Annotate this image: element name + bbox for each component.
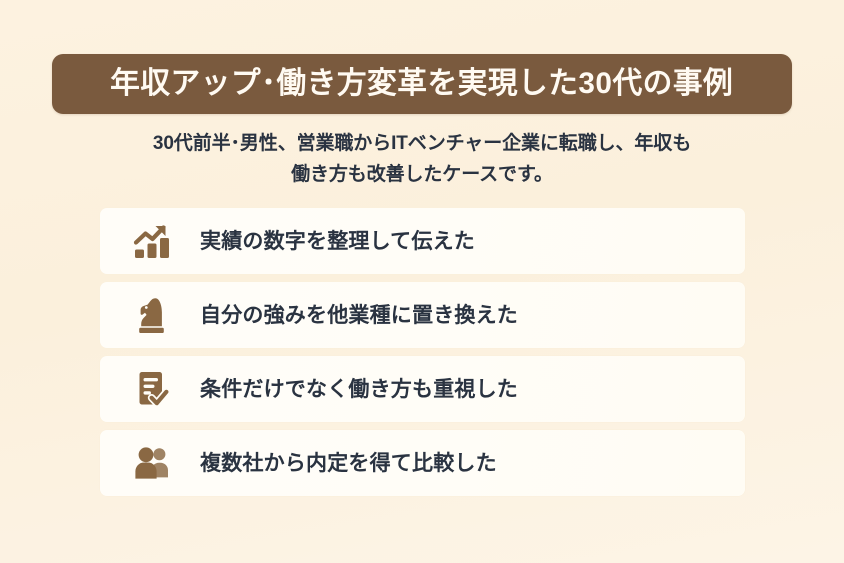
list-item: 複数社から内定を得て比較した: [100, 430, 745, 496]
list-item: 自分の強みを他業種に置き換えた: [100, 282, 745, 348]
people-group-icon: [128, 439, 176, 487]
poster-root: 年収アップ･働き方変革を実現した30代の事例 30代前半･男性、営業職からITベ…: [0, 0, 844, 563]
list-item: 条件だけでなく働き方も重視した: [100, 356, 745, 422]
subtitle: 30代前半･男性、営業職からITベンチャー企業に転職し、年収も 働き方も改善した…: [0, 129, 844, 191]
list-item-label: 複数社から内定を得て比較した: [200, 453, 497, 474]
list-item: 実績の数字を整理して伝えた: [100, 208, 745, 274]
subtitle-line-1: 30代前半･男性、営業職からITベンチャー企業に転職し、年収も: [0, 129, 844, 160]
list-item-label: 自分の強みを他業種に置き換えた: [200, 305, 518, 326]
chess-knight-icon: [128, 291, 176, 339]
list-item-label: 条件だけでなく働き方も重視した: [200, 379, 518, 400]
growth-chart-icon: [128, 217, 176, 265]
checklist-document-icon: [128, 365, 176, 413]
highlight-list: 実績の数字を整理して伝えた 自分の強みを他業種に置き換えた: [100, 208, 745, 496]
page-title: 年収アップ･働き方変革を実現した30代の事例: [110, 69, 733, 99]
list-item-label: 実績の数字を整理して伝えた: [200, 231, 475, 252]
title-banner: 年収アップ･働き方変革を実現した30代の事例: [52, 54, 792, 114]
subtitle-line-2: 働き方も改善したケースです。: [0, 160, 844, 191]
